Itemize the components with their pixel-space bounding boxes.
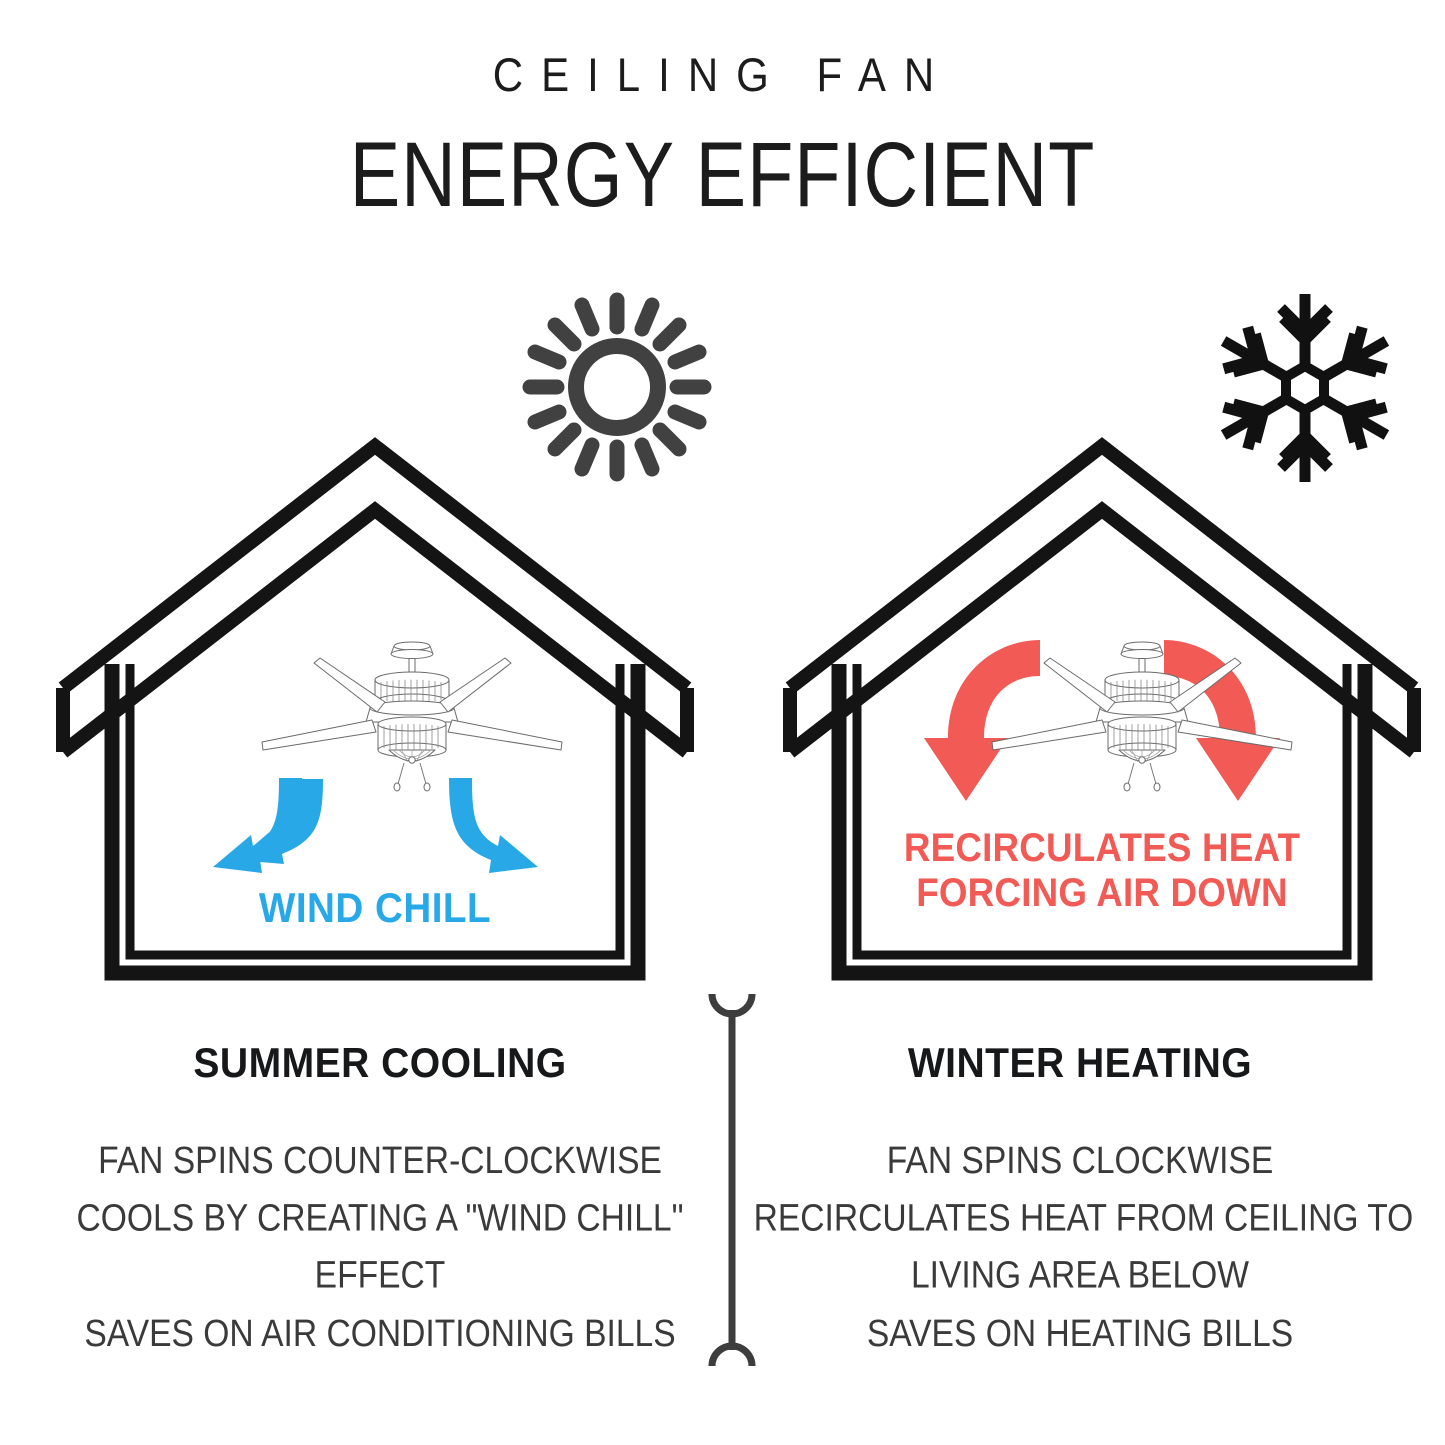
winter-body-line-3: LIVING AREA BELOW (754, 1247, 1407, 1304)
header: CEILING FAN ENERGY EFFICIENT (0, 52, 1445, 206)
summer-heading: SUMMER COOLING (64, 1042, 696, 1084)
summer-body-line-4: SAVES ON AIR CONDITIONING BILLS (54, 1304, 707, 1361)
summer-body: FAN SPINS COUNTER-CLOCKWISE COOLS BY CRE… (54, 1132, 707, 1362)
summer-caption-block: SUMMER COOLING FAN SPINS COUNTER-CLOCKWI… (40, 1042, 720, 1345)
winter-body-line-1: FAN SPINS CLOCKWISE (754, 1132, 1407, 1189)
infographic-canvas: CEILING FAN ENERGY EFFICIENT (0, 0, 1445, 1445)
winter-inside-label-line2: FORCING AIR DOWN (808, 871, 1397, 916)
summer-body-line-2: COOLS BY CREATING A "WIND CHILL" (54, 1189, 707, 1246)
summer-panel: WIND CHILL (55, 432, 695, 1002)
summer-inside-label: WIND CHILL (81, 884, 670, 931)
ceiling-fan-winter (982, 632, 1302, 797)
winter-inside-label: RECIRCULATES HEAT FORCING AIR DOWN (808, 826, 1397, 916)
winter-body: FAN SPINS CLOCKWISE RECIRCULATES HEAT FR… (754, 1132, 1407, 1362)
eyebrow-title: CEILING FAN (0, 52, 1445, 99)
winter-inside-label-line1: RECIRCULATES HEAT (808, 826, 1397, 871)
winter-heading: WINTER HEATING (764, 1042, 1396, 1084)
winter-body-line-4: SAVES ON HEATING BILLS (754, 1304, 1407, 1361)
summer-body-line-1: FAN SPINS COUNTER-CLOCKWISE (54, 1132, 707, 1189)
winter-caption-block: WINTER HEATING FAN SPINS CLOCKWISE RECIR… (740, 1042, 1420, 1345)
winter-panel: RECIRCULATES HEAT FORCING AIR DOWN (782, 432, 1422, 1002)
summer-body-line-3: EFFECT (54, 1247, 707, 1304)
winter-body-line-2: RECIRCULATES HEAT FROM CEILING TO (754, 1189, 1407, 1246)
page-title: ENERGY EFFICIENT (22, 128, 1424, 220)
